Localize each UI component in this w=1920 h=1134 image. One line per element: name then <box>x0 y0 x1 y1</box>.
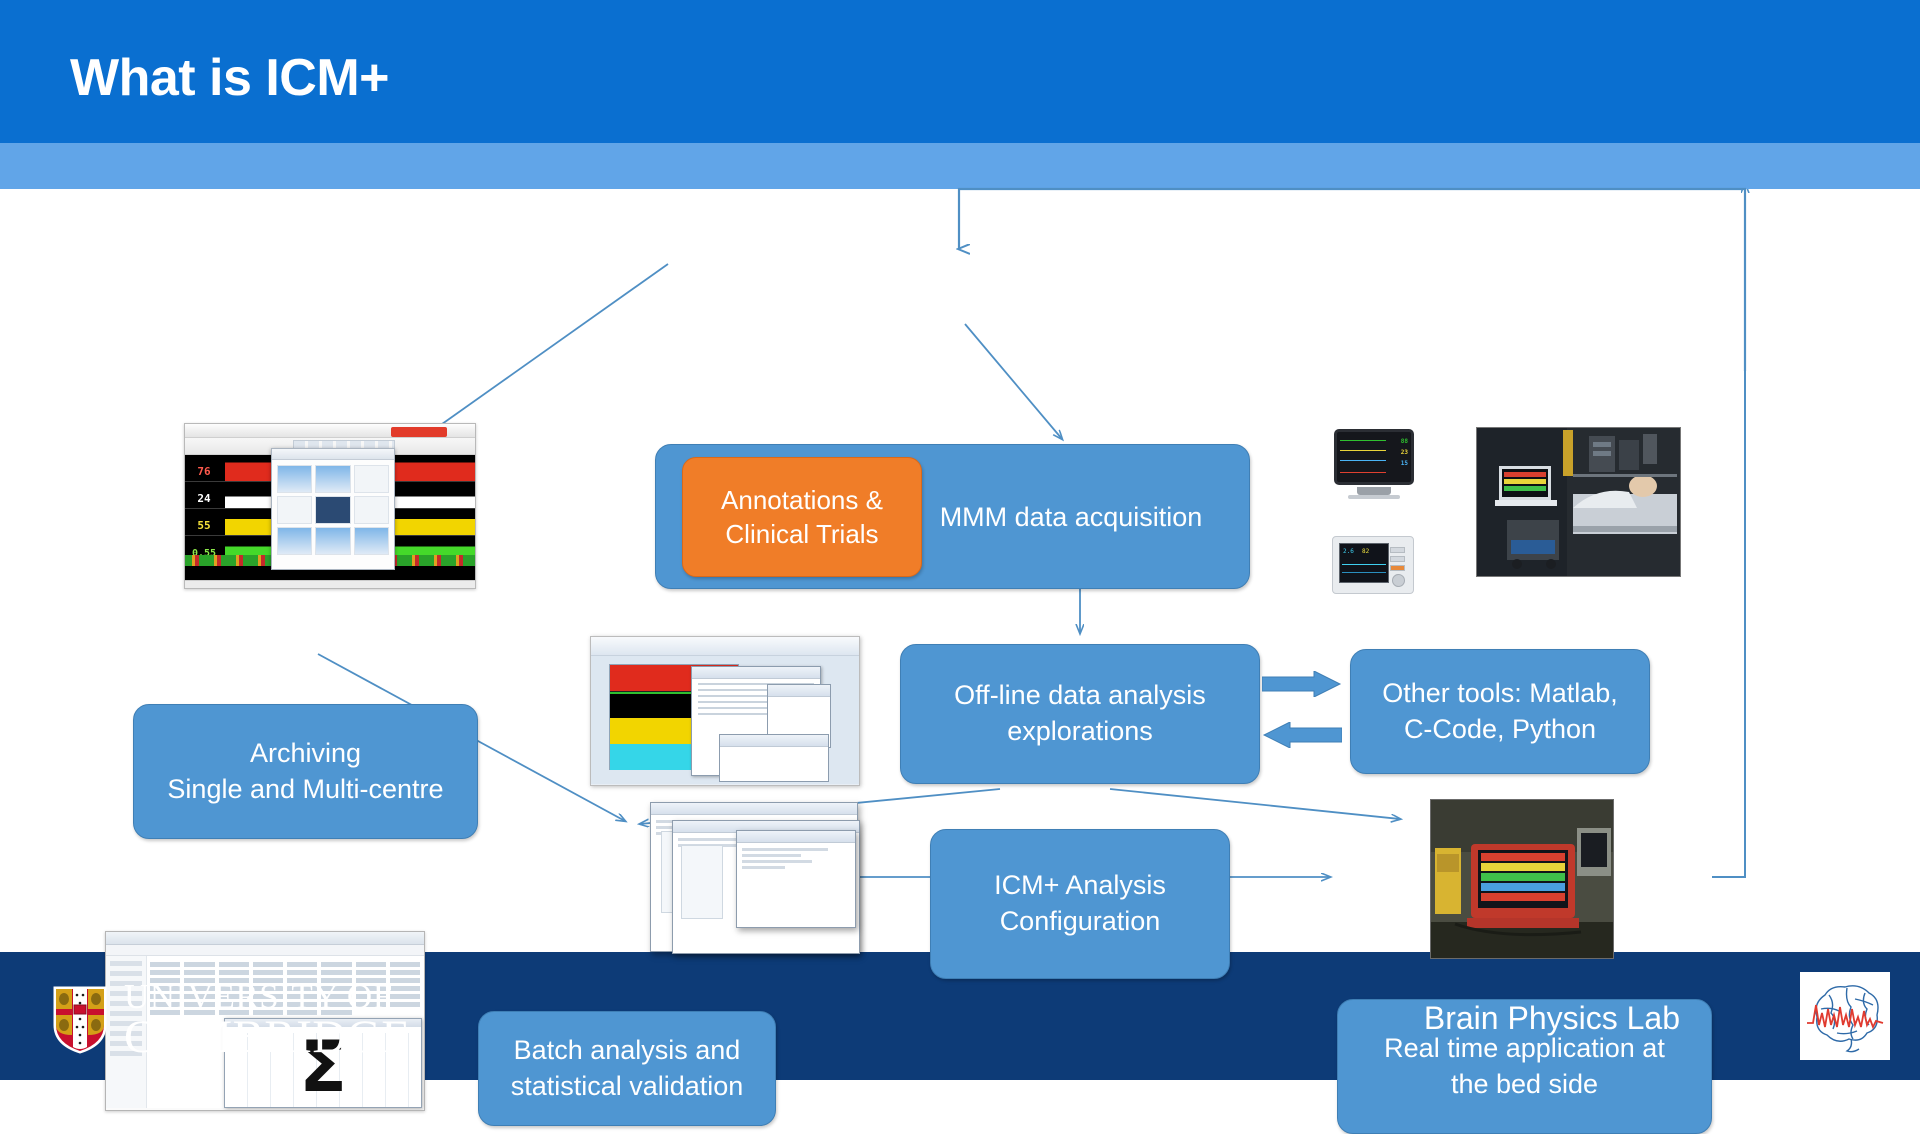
university-line1: UNIVERSITY OF <box>124 980 411 1014</box>
box-batch-analysis[interactable]: Batch analysis and statistical validatio… <box>478 1011 776 1126</box>
box-annotations-line1: Annotations & <box>721 483 883 517</box>
icm-value-1: 24 <box>187 484 221 505</box>
bedside-laptop-photo <box>1430 799 1614 959</box>
box-batch-line1: Batch analysis and <box>511 1033 744 1069</box>
icm-main-screenshot: 76 24 55 0.55 <box>184 423 476 589</box>
box-archiving-line2: Single and Multi-centre <box>167 772 443 808</box>
box-other-tools-line1: Other tools: Matlab, <box>1382 676 1618 712</box>
patient-monitor-photo: 88 23 15 <box>1334 429 1414 501</box>
box-icm-config-line2: Configuration <box>994 904 1166 940</box>
config-dialogs-screenshot <box>650 802 878 964</box>
box-annotations-clinical-trials[interactable]: Annotations & Clinical Trials <box>682 457 922 577</box>
box-offline-line1: Off-line data analysis <box>954 678 1206 714</box>
box-offline-line2: explorations <box>954 714 1206 750</box>
diagram-canvas: 76 24 55 0.55 <box>0 189 1920 952</box>
box-offline-data-analysis[interactable]: Off-line data analysis explorations <box>900 644 1260 784</box>
cambridge-crest-icon <box>52 985 108 1055</box>
university-name: UNIVERSITY OF CAMBRIDGE <box>124 980 411 1060</box>
box-archiving[interactable]: Archiving Single and Multi-centre <box>133 704 478 839</box>
box-icm-analysis-configuration[interactable]: ICM+ Analysis Configuration <box>930 829 1230 979</box>
arrow-othertools-to-offline <box>1262 722 1342 748</box>
offline-analysis-screenshot <box>590 636 860 786</box>
box-mmm-label: MMM data acquisition <box>901 445 1241 590</box>
lab-name: Brain Physics Lab <box>1424 1000 1680 1037</box>
brain-physics-lab-logo-icon <box>1800 972 1890 1060</box>
box-realtime-line2: the bed side <box>1384 1067 1665 1103</box>
arrow-offline-to-othertools <box>1262 671 1342 697</box>
box-archiving-line1: Archiving <box>167 736 443 772</box>
box-other-tools-line2: C-Code, Python <box>1382 712 1618 748</box>
slide-header-bar: What is ICM+ <box>0 0 1920 143</box>
box-annotations-line2: Clinical Trials <box>721 517 883 551</box>
icu-bed-photo <box>1476 427 1681 577</box>
page-title: What is ICM+ <box>70 48 389 108</box>
doppler-device-photo: 2.6 82 <box>1332 536 1414 598</box>
box-icm-config-line1: ICM+ Analysis <box>994 868 1166 904</box>
box-batch-line2: statistical validation <box>511 1069 744 1105</box>
box-other-tools[interactable]: Other tools: Matlab, C-Code, Python <box>1350 649 1650 774</box>
university-logo: UNIVERSITY OF CAMBRIDGE <box>52 980 411 1060</box>
icm-dialog-overlay <box>271 448 395 570</box>
university-line2: CAMBRIDGE <box>124 1014 411 1060</box>
icm-value-0: 76 <box>187 457 221 478</box>
icm-value-2: 55 <box>187 511 221 532</box>
feedback-loop-arrow <box>0 171 1920 371</box>
